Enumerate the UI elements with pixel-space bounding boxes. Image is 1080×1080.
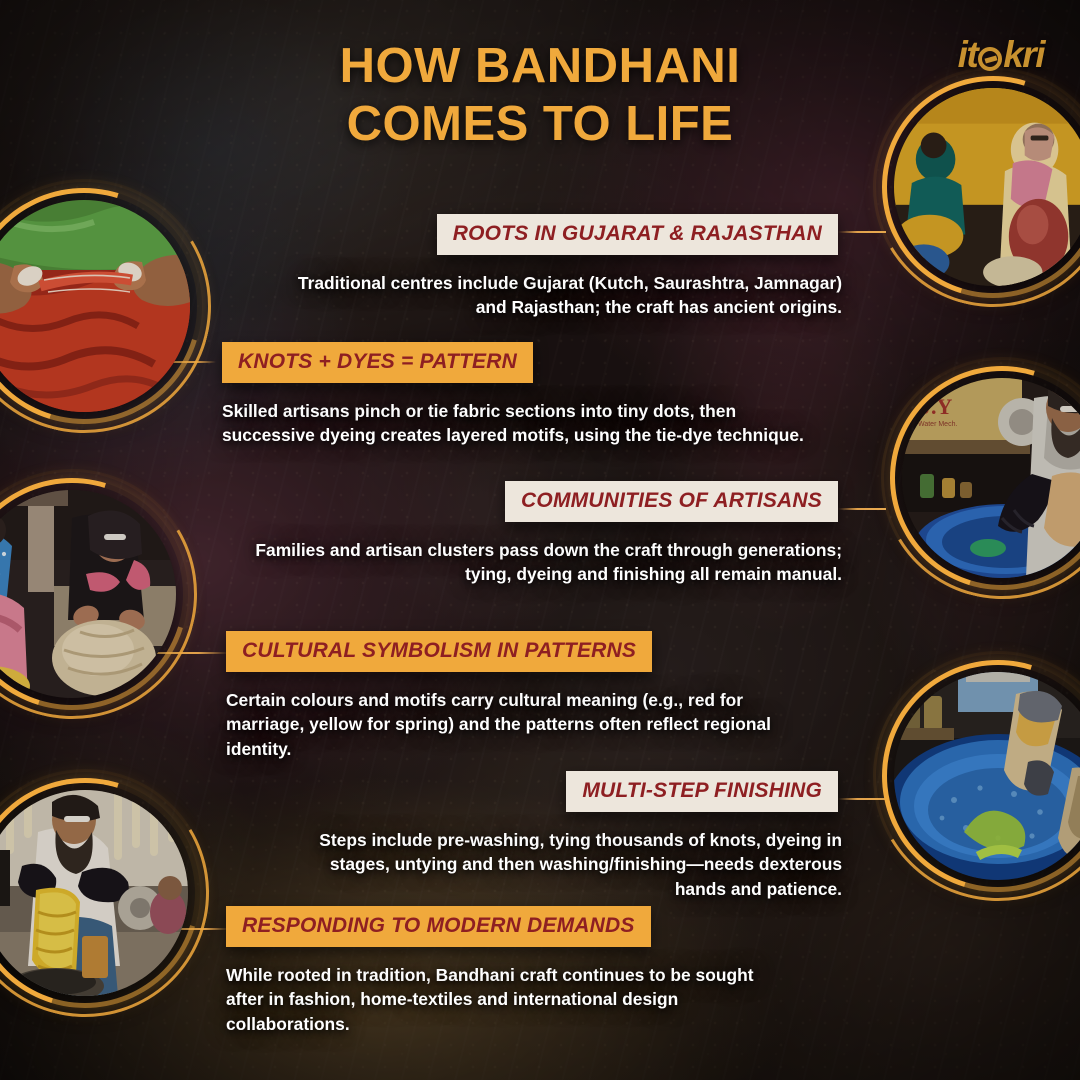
section-2-body: Skilled artisans pinch or tie fabric sec… (222, 399, 824, 448)
section-3-heading: COMMUNITIES OF ARTISANS (505, 481, 838, 522)
section-6-body: While rooted in tradition, Bandhani craf… (226, 963, 794, 1036)
section-6-heading: RESPONDING TO MODERN DEMANDS (226, 906, 651, 947)
page-title-line-1: HOW BANDHANI (0, 38, 1080, 96)
logo-text-after: kri (1003, 34, 1044, 76)
section-4-body: Certain colours and motifs carry cultura… (226, 688, 784, 761)
section-1: ROOTS IN GUJARAT & RAJASTHAN Traditional… (0, 214, 1080, 320)
section-4: CULTURAL SYMBOLISM IN PATTERNS Certain c… (0, 631, 1080, 761)
section-6: RESPONDING TO MODERN DEMANDS While roote… (0, 906, 1080, 1036)
section-5-body: Steps include pre-washing, tying thousan… (318, 828, 842, 901)
logo-circle-icon (978, 47, 1002, 71)
section-4-heading: CULTURAL SYMBOLISM IN PATTERNS (226, 631, 652, 672)
section-2: KNOTS + DYES = PATTERN Skilled artisans … (0, 342, 1080, 448)
page-title-line-2: COMES TO LIFE (0, 96, 1080, 154)
section-5-heading: MULTI-STEP FINISHING (566, 771, 838, 812)
section-2-heading: KNOTS + DYES = PATTERN (222, 342, 533, 383)
section-3: COMMUNITIES OF ARTISANS Families and art… (0, 481, 1080, 587)
brand-logo-itokri[interactable]: it kri (958, 34, 1044, 76)
section-5: MULTI-STEP FINISHING Steps include pre-w… (0, 771, 1080, 901)
section-1-heading: ROOTS IN GUJARAT & RAJASTHAN (437, 214, 838, 255)
section-3-body: Families and artisan clusters pass down … (240, 538, 842, 587)
logo-text-before: it (958, 34, 978, 76)
section-1-body: Traditional centres include Gujarat (Kut… (276, 271, 842, 320)
page-title: HOW BANDHANI COMES TO LIFE (0, 38, 1080, 154)
